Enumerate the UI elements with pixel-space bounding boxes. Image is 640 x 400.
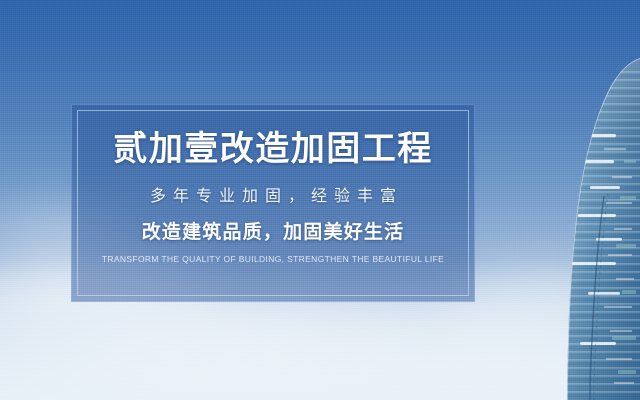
- english-tagline: TRANSFORM THE QUALITY OF BUILDING, STREN…: [102, 255, 444, 264]
- text-panel: 贰加壹改造加固工程 多年专业加固，经验丰富 改造建筑品质，加固美好生活 TRAN…: [71, 104, 475, 302]
- banner-image: 贰加壹改造加固工程 多年专业加固，经验丰富 改造建筑品质，加固美好生活 TRAN…: [0, 0, 640, 400]
- slogan-line: 改造建筑品质，加固美好生活: [142, 223, 405, 242]
- subtitle-line: 多年专业加固，经验丰富: [143, 189, 403, 205]
- skyscraper-icon: [520, 0, 640, 400]
- headline-title: 贰加壹改造加固工程: [113, 132, 433, 166]
- panel-content: 贰加壹改造加固工程 多年专业加固，经验丰富 改造建筑品质，加固美好生活 TRAN…: [71, 104, 475, 302]
- skyscraper-building: [520, 0, 640, 400]
